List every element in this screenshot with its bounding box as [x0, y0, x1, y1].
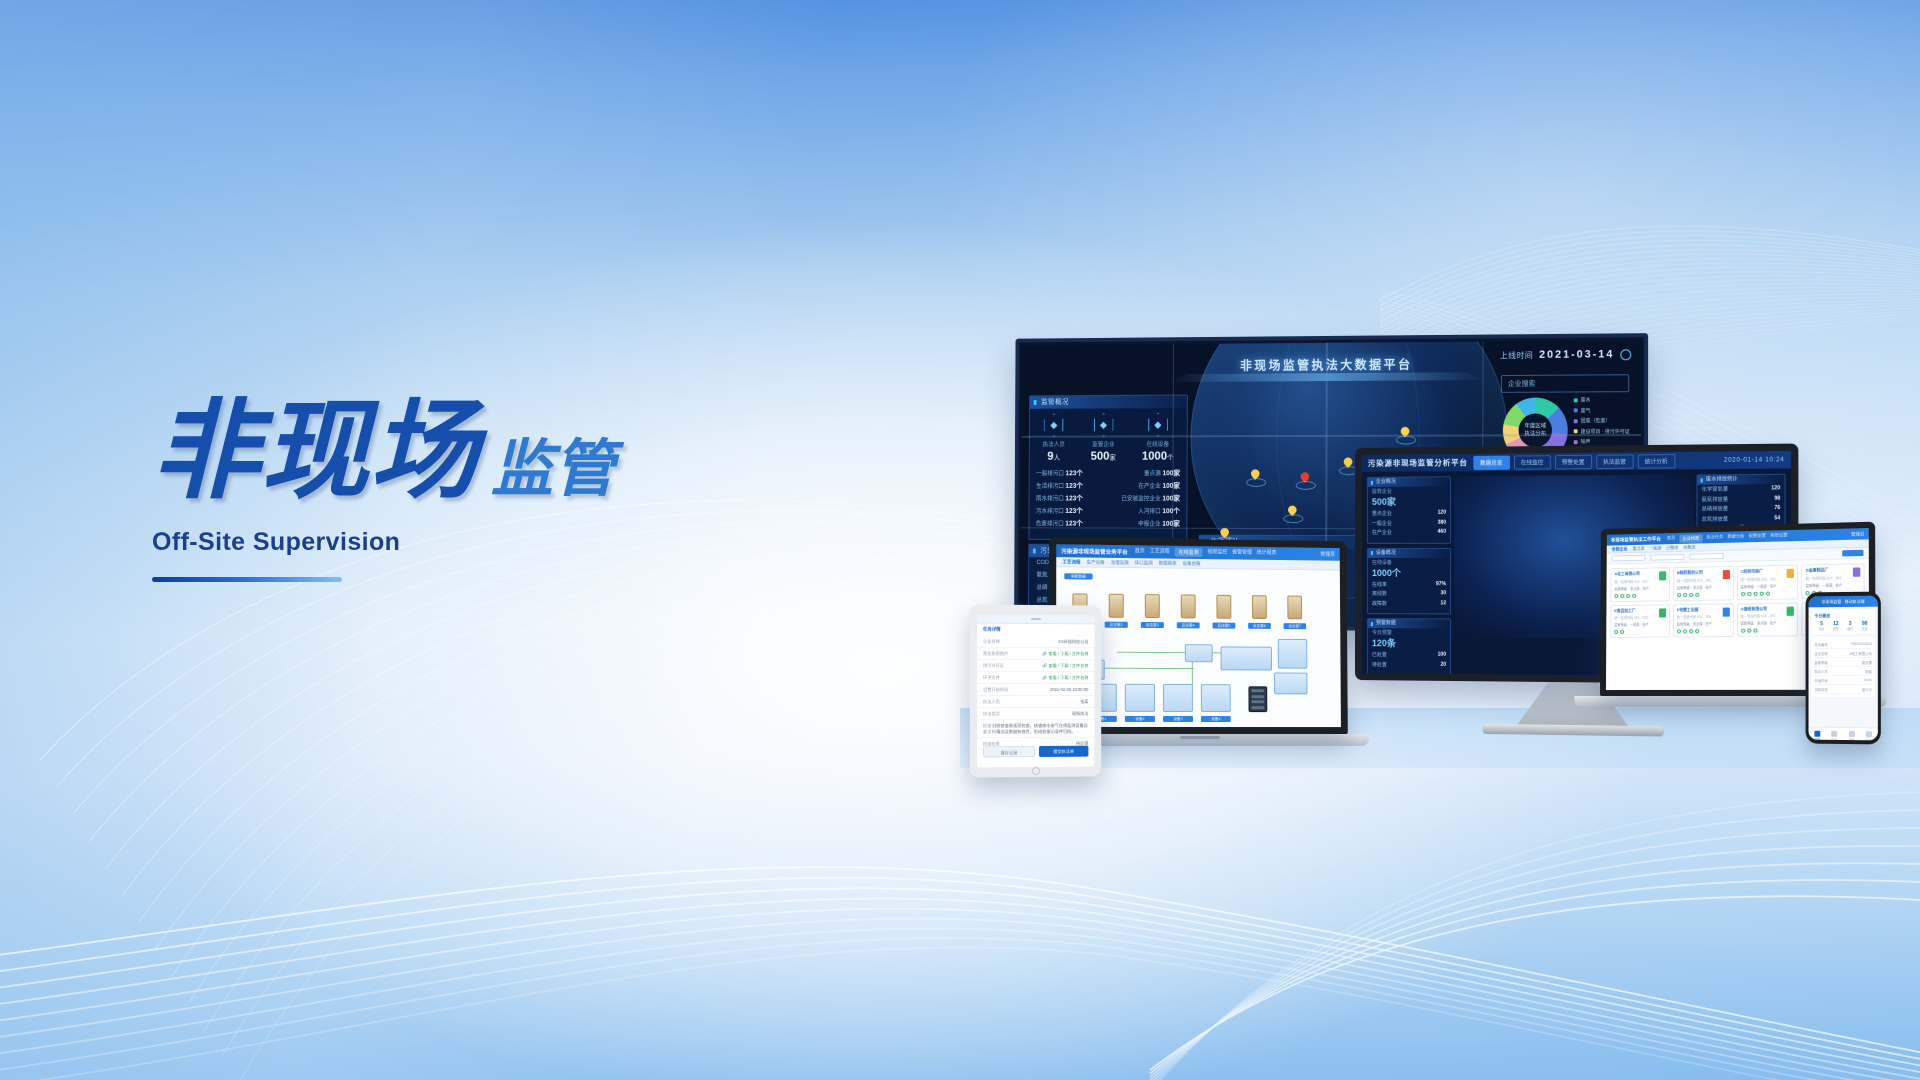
tablet-detail-row: 企业名称XX环保科技公司 — [977, 636, 1094, 649]
process-tank-icon — [1109, 594, 1124, 618]
refresh-button[interactable]: 刷新数据 — [1064, 573, 1092, 579]
enterprise-card-meta: 监管等级：一般源 · 停产 — [1741, 583, 1795, 589]
laptop-right-menu-item[interactable]: 系统设置 — [1770, 532, 1787, 541]
status-dot-icon — [1620, 594, 1624, 598]
overview-mini-row: 污水排污口 123个入河排口 100个 — [1029, 504, 1186, 517]
phone-kpi-label: 超标 — [1847, 627, 1853, 631]
status-dot-icon — [1683, 592, 1687, 596]
enterprise-card[interactable]: A化工有限公司统一信用代码 913…001监管等级：重点源 · 在产 — [1610, 567, 1670, 602]
phone-task-value: 10:00 — [1863, 678, 1871, 683]
phone-nav-item[interactable]: 首页 — [1809, 728, 1826, 740]
monitor-card-stat-value: 120条 — [1372, 636, 1446, 650]
search-input[interactable]: 企业搜索 — [1501, 374, 1629, 393]
tablet-detail-row: 执法类型现场执法 — [977, 708, 1094, 720]
process-tank-button[interactable]: 反应釜6 — [1248, 623, 1271, 629]
phone-task-row: 企业名称A化工有限公司 — [1814, 649, 1871, 658]
tablet-detail-key: 环评文件 — [983, 674, 1000, 680]
phone-task-value: 重点源 — [1862, 659, 1872, 664]
mini-row-left: 雨水排污口 123个 — [1036, 493, 1083, 503]
enterprise-card-code: 统一信用代码 913…002 — [1677, 577, 1729, 583]
search-button[interactable] — [1842, 550, 1863, 557]
tablet-detail-value[interactable]: 🔗 查看 / 下载 / 文件名称 — [1042, 651, 1088, 657]
overview-stat-cell: ◆执法人员9人 — [1043, 413, 1066, 462]
mini-row-left-value: 123个 — [1065, 508, 1082, 515]
process-line-3 — [1102, 668, 1194, 670]
laptop-center-menu-item[interactable]: 工艺流程 — [1150, 547, 1170, 556]
monitor-card-row-key: 在产企业 — [1372, 529, 1392, 536]
phone-task-row: 当前状态进行中 — [1814, 685, 1871, 694]
monitor-card-header: 设备概况 — [1368, 548, 1450, 557]
enterprise-card-meta: 监管等级：重点源 · 在产 — [1741, 620, 1795, 626]
tablet-detail-value: 现场执法 — [1072, 710, 1089, 716]
process-tank-icon — [1252, 595, 1267, 619]
status-dot-icon — [1626, 593, 1630, 597]
phone-nav-item[interactable]: 预警 — [1843, 728, 1860, 740]
donut-legend-swatch — [1574, 398, 1578, 402]
tablet-detail-row: 检查要求对照核查表逐项检查，核查废水废气在线监测设备运行情况及数据有效性，形成检… — [977, 720, 1094, 738]
clock-icon — [1620, 349, 1631, 360]
process-device-button[interactable]: 设备2 — [1125, 716, 1155, 722]
enterprise-card-meta: 监管等级：重点源 · 在产 — [1677, 584, 1729, 590]
phone-task-key: 企业名称 — [1814, 651, 1827, 656]
monitor-card-row: 在产企业460 — [1372, 529, 1446, 536]
donut-legend-item: 噪声 — [1574, 438, 1633, 445]
phone-task-key: 当前状态 — [1814, 686, 1827, 691]
page-title: 非现场 — [152, 398, 479, 506]
donut-legend-swatch — [1574, 440, 1578, 444]
monitor-card-row-key: 待处置 — [1372, 661, 1387, 668]
monitor-card-row-key: 一般企业 — [1372, 519, 1392, 526]
phone-task-value: RW20210314 — [1851, 641, 1872, 646]
monitor-card-row-key: 总磷排放量 — [1702, 505, 1728, 512]
phone-task-value: 张某 — [1865, 669, 1872, 674]
tablet-action-button[interactable]: 暂存记录 — [983, 746, 1035, 757]
enterprise-card-meta: 监管等级：一般源 · 在产 — [1614, 621, 1666, 627]
monitor-left-cards: 企业概况监管企业500家重点企业120一般企业380在产企业460设备概况在线设… — [1367, 476, 1451, 666]
monitor-tab[interactable]: 在线监控 — [1514, 455, 1551, 470]
tablet-detail-key: 营业执照图片 — [983, 650, 1008, 656]
monitor-tab[interactable]: 统计分析 — [1637, 453, 1675, 468]
tablet-detail-row: 营业执照图片🔗 查看 / 下载 / 文件名称 — [977, 648, 1094, 660]
overview-panel-header: 监管概况 — [1030, 395, 1187, 408]
process-tank-button[interactable]: 反应釜2 — [1105, 622, 1128, 628]
status-badge — [1722, 607, 1729, 616]
page-subtitle-cn: 监管 — [491, 438, 615, 500]
mini-row-left: 污水排污口 123个 — [1036, 506, 1083, 516]
tablet-detail-value: 张某 — [1080, 698, 1088, 704]
phone-screen: 非现场监管 · 移动执法端 今日概览 5待办12预警3超标98在线 任务编号RW… — [1809, 596, 1878, 741]
status-dot-icon — [1683, 629, 1687, 633]
monitor-card-header: 废水排放统计 — [1697, 475, 1784, 485]
donut-legend-item: 废气 — [1574, 407, 1633, 414]
phone-task-key: 监管等级 — [1814, 660, 1827, 665]
tablet-detail-row: 设置开始时间2021-02-25 10:00:00 — [977, 684, 1094, 696]
map-pin-icon — [1301, 472, 1310, 485]
donut-legend-swatch — [1574, 408, 1578, 412]
monitor-title: 污染源非现场监管分析平台 — [1368, 457, 1468, 469]
monitor-card-row: 一般企业380 — [1372, 519, 1446, 526]
overview-stat-cell: ◆在线设备1000个 — [1142, 413, 1174, 463]
enterprise-card[interactable]: F电镀工业园统一信用代码 913…006监管等级：重点源 · 在产 — [1673, 603, 1734, 638]
enterprise-card[interactable]: B制药股份公司统一信用代码 913…002监管等级：重点源 · 在产 — [1673, 566, 1734, 601]
monitor-card-row: 在线率97% — [1372, 581, 1446, 588]
laptop-center-title: 污染源非现场监管业务平台 — [1061, 547, 1127, 556]
monitor-card-row-value: 100 — [1438, 652, 1446, 659]
monitor-card-row: 化学需氧量120 — [1702, 485, 1781, 493]
overview-mini-row: 雨水排污口 123个已安装监控企业 100家 — [1029, 492, 1186, 505]
enterprise-card-code: 统一信用代码 913…006 — [1677, 614, 1730, 620]
tablet-detail-value[interactable]: 🔗 查看 / 下载 / 文件名称 — [1042, 675, 1088, 681]
laptop-center-menu-item[interactable]: 在线监测 — [1175, 548, 1203, 557]
phone-nav-icon — [1866, 731, 1872, 737]
monitor-tabs: 数据总览在线监控预警处置执法监管统计分析 — [1473, 453, 1675, 469]
laptop-center-menu: 首页工艺流程在线监测视频监控报警管理统计报表 — [1135, 547, 1277, 558]
map-pin-head — [1299, 470, 1311, 482]
status-dot-icon — [1614, 630, 1618, 634]
laptop-center-menu-item[interactable]: 统计报表 — [1257, 549, 1277, 558]
donut-legend-swatch — [1574, 429, 1578, 433]
tablet-device: 任务详情 企业名称XX环保科技公司营业执照图片🔗 查看 / 下载 / 文件名称排… — [970, 604, 1101, 777]
monitor-card-row-value: 380 — [1438, 519, 1446, 526]
monitor-card-row-value: 120 — [1438, 510, 1446, 517]
date-label: 上线时间 — [1500, 350, 1533, 361]
donut-center-line2: 执法分布 — [1524, 431, 1546, 437]
monitor-card-row-key: 重点企业 — [1372, 510, 1392, 517]
overview-panel: 监管概况 ◆执法人员9人◆监管企业500家◆在线设备1000个 一般排污口 12… — [1028, 395, 1188, 541]
mini-row-left-value: 123个 — [1065, 495, 1082, 502]
monitor-card-row: 总氮排放量54 — [1702, 515, 1781, 523]
enterprise-card-meta: 监管等级：重点源 · 在产 — [1677, 621, 1730, 627]
map-pin-head — [1286, 504, 1298, 516]
laptop-right-tab[interactable]: 一般源 — [1649, 545, 1661, 551]
overview-stat-label: 监管企业 — [1091, 439, 1116, 448]
donut-legend-label: 废水 — [1581, 396, 1591, 403]
process-tank-icon — [1145, 594, 1160, 618]
phone-notch — [1832, 592, 1854, 596]
tablet-action-button[interactable]: 提交执法单 — [1039, 746, 1088, 757]
enterprise-card-meta: 监管等级：重点源 · 在产 — [1614, 585, 1665, 591]
enterprise-card-dots — [1614, 629, 1666, 634]
laptop-right-menu-item[interactable]: 数据分析 — [1727, 533, 1744, 542]
phone-nav-icon — [1831, 731, 1837, 737]
monitor-card-row: 总磷排放量76 — [1702, 505, 1781, 513]
process-device-node — [1201, 684, 1231, 712]
tablet-detail-value: 对照核查表逐项检查，核查废水废气在线监测设备运行情况及数据有效性，形成检查记录并… — [992, 722, 1088, 734]
phone-task-key: 执法人员 — [1814, 668, 1827, 673]
building-hex-icon: ◆ — [1094, 413, 1114, 436]
monitor-card-row-value: 98 — [1774, 495, 1780, 502]
headline-divider — [152, 577, 342, 582]
phone-header: 非现场监管 · 移动执法端 — [1809, 596, 1878, 608]
process-tank-button[interactable]: 反应釜5 — [1213, 623, 1236, 629]
overview-stat-unit: 人 — [1054, 455, 1061, 462]
mini-row-left: 一般排污口 123个 — [1036, 468, 1083, 478]
enterprise-card-dots — [1677, 592, 1730, 597]
laptop-right-tab[interactable]: 全部企业 — [1612, 546, 1628, 552]
monitor-card-row-value: 54 — [1774, 515, 1780, 522]
status-dot-icon — [1753, 591, 1757, 595]
tablet-detail-key: 企业名称 — [983, 638, 1000, 644]
mini-row-left: 生活排污口 123个 — [1036, 481, 1083, 491]
process-device-button[interactable]: 设备3 — [1163, 716, 1193, 722]
laptop-right-menu-item[interactable]: 报警处置 — [1749, 532, 1766, 541]
map-pin-head — [1250, 467, 1262, 479]
tablet-detail-row: 排污许可证🔗 查看 / 下载 / 文件名称 — [977, 660, 1094, 672]
overview-stat-label: 在线设备 — [1142, 439, 1174, 448]
status-badge — [1787, 606, 1794, 615]
process-device-node — [1125, 684, 1155, 712]
phone-nav-icon — [1814, 731, 1820, 737]
phone-kpi-label: 在线 — [1862, 627, 1868, 631]
phone-task-rows: 任务编号RW20210314企业名称A化工有限公司监管等级重点源执法人员张某开始… — [1814, 640, 1871, 694]
tablet-header: 任务详情 — [977, 624, 1094, 637]
monitor-time: 2020-01-14 10:24 — [1724, 457, 1785, 464]
monitor-card-row: 故障数12 — [1372, 600, 1446, 607]
phone-nav-item[interactable]: 我的 — [1860, 728, 1877, 740]
tablet-detail-key: 执法类型 — [983, 711, 1000, 717]
mini-row-right: 入河排口 100个 — [1138, 506, 1180, 516]
monitor-card-row-key: 已处置 — [1372, 651, 1387, 658]
filter-industry[interactable] — [1612, 555, 1646, 562]
donut-legend-item: 废水 — [1574, 396, 1633, 403]
phone-kpi: 3超标 — [1847, 621, 1853, 631]
phone-section-title: 今日概览 — [1814, 613, 1871, 619]
tablet-detail-key: 设置开始时间 — [983, 686, 1008, 692]
status-dot-icon — [1677, 629, 1681, 633]
donut-center-line1: 年度区域 — [1524, 423, 1546, 429]
monitor-card: 企业概况监管企业500家重点企业120一般企业380在产企业460 — [1367, 476, 1451, 543]
status-dot-icon — [1614, 594, 1618, 598]
mini-row-left-value: 123个 — [1065, 470, 1082, 477]
process-tank-button[interactable]: 反应釜3 — [1141, 622, 1164, 628]
monitor-card-row: 氨氮排放量98 — [1702, 495, 1781, 503]
status-dot-icon — [1753, 629, 1757, 633]
tablet-home-button[interactable] — [1032, 767, 1040, 775]
donut-center-label: 年度区域 执法分布 — [1524, 422, 1546, 438]
overview-mini-rows: 一般排污口 123个重点源 100家生活排污口 123个在产企业 100家雨水排… — [1029, 466, 1186, 529]
process-device-button[interactable]: 设备4 — [1201, 716, 1231, 722]
donut-legend-label: 固废（危废） — [1581, 417, 1611, 424]
donut-legend-swatch — [1574, 419, 1578, 423]
hero-headline: 非现场 监管 Off-Site Supervision — [152, 398, 772, 582]
phone-kpi: 98在线 — [1862, 621, 1868, 631]
laptop-right-tab[interactable]: 已整改 — [1666, 544, 1678, 550]
process-device-node — [1163, 684, 1193, 712]
monitor-tab[interactable]: 预警处置 — [1555, 454, 1592, 469]
process-tank-button[interactable]: 反应釜4 — [1177, 622, 1200, 628]
process-tank-icon — [1287, 596, 1302, 620]
enterprise-card[interactable]: C纺织印染厂统一信用代码 913…003监管等级：一般源 · 停产 — [1737, 565, 1799, 600]
monitor-card-row: 离线数30 — [1372, 590, 1446, 597]
phone-nav-item[interactable]: 任务 — [1826, 728, 1843, 740]
status-badge — [1659, 608, 1666, 617]
phone-task-row: 任务编号RW20210314 — [1814, 640, 1871, 649]
status-badge — [1722, 570, 1729, 579]
monitor-card-stat-value: 500家 — [1372, 494, 1446, 507]
process-node-3 — [1221, 646, 1272, 670]
status-badge — [1853, 567, 1860, 576]
monitor-card-row-key: 总氮排放量 — [1702, 515, 1728, 522]
tablet-detail-row: 环评文件🔗 查看 / 下载 / 文件名称 — [977, 672, 1094, 684]
enterprise-card-dots — [1677, 629, 1730, 634]
map-pin-icon — [1288, 505, 1297, 518]
tablet-detail-key: 检查要求 — [983, 723, 992, 735]
enterprise-card-title: B制药股份公司 — [1677, 570, 1729, 576]
phone-task-row: 执法人员张某 — [1814, 667, 1871, 676]
monitor-card-row-key: 化学需氧量 — [1702, 486, 1728, 493]
device-mockup-cluster: 非现场监管执法大数据平台 上线时间 2021-03-14 企业搜索 监管概况 ◆… — [960, 300, 1920, 760]
monitor-topbar: 污染源非现场监管分析平台 数据总览在线监控预警处置执法监管统计分析 2020-0… — [1362, 451, 1791, 472]
donut-legend-item: 固废（危废） — [1574, 417, 1633, 424]
enterprise-card-meta: 监管等级：一般源 · 在产 — [1806, 581, 1861, 587]
laptop-center-subtab[interactable]: 工艺流程 — [1062, 559, 1080, 565]
monitor-card-row-value: 460 — [1438, 529, 1446, 536]
process-tank-icon — [1216, 595, 1231, 619]
status-dot-icon — [1620, 630, 1624, 634]
tablet-detail-value: XX环保科技公司 — [1058, 639, 1088, 645]
mini-row-left-value: 123个 — [1065, 520, 1082, 527]
phone-task-value: A化工有限公司 — [1849, 650, 1872, 655]
process-node-5 — [1274, 672, 1307, 694]
enterprise-card-dots — [1741, 591, 1795, 596]
phone-task-row: 监管等级重点源 — [1814, 658, 1871, 667]
status-dot-icon — [1695, 592, 1699, 596]
phone-kpis: 5待办12预警3超标98在线 — [1814, 621, 1871, 631]
process-node-2 — [1185, 644, 1213, 662]
phone-kpi-label: 待办 — [1819, 627, 1825, 631]
phone-task-value: 进行中 — [1862, 687, 1872, 692]
laptop-right-user: 管理员 — [1851, 531, 1864, 538]
phone-kpi-label: 预警 — [1833, 627, 1839, 631]
status-badge — [1659, 571, 1666, 580]
tablet-detail-value[interactable]: 🔗 查看 / 下载 / 文件名称 — [1042, 663, 1088, 669]
overview-stat-value: 1000个 — [1142, 449, 1174, 463]
device-hex-icon: ◆ — [1148, 413, 1168, 436]
status-dot-icon — [1741, 592, 1745, 596]
status-dot-icon — [1689, 629, 1693, 633]
people-hex-icon: ◆ — [1044, 413, 1064, 436]
map-pin-icon — [1400, 427, 1409, 440]
monitor-card-row-value: 97% — [1436, 581, 1446, 588]
laptop-right-menu-item[interactable]: 首页 — [1667, 534, 1675, 542]
overview-stat-cell: ◆监管企业500家 — [1091, 413, 1116, 462]
enterprise-card-dots — [1614, 593, 1665, 598]
monitor-card-header: 企业概况 — [1368, 477, 1450, 487]
monitor-card-row: 重点企业120 — [1372, 510, 1446, 517]
laptop-right-tab[interactable]: 待整改 — [1683, 544, 1695, 550]
laptop-right-title: 非现场监管执法工作平台 — [1611, 536, 1661, 543]
laptop-center-subtab[interactable]: 排口监测 — [1135, 560, 1153, 566]
laptop-center-subtab[interactable]: 数据报表 — [1159, 560, 1177, 566]
monitor-card: 预警数据今日预警120条已处置100待处置20 — [1367, 618, 1451, 676]
phone-task-section: 任务编号RW20210314企业名称A化工有限公司监管等级重点源执法人员张某开始… — [1811, 637, 1874, 697]
map-pin-head — [1342, 456, 1354, 469]
laptop-center-subtab[interactable]: 设备台账 — [1183, 560, 1201, 566]
tablet-detail-rows: 企业名称XX环保科技公司营业执照图片🔗 查看 / 下载 / 文件名称排污许可证🔗… — [977, 636, 1094, 751]
mini-row-left-value: 123个 — [1065, 483, 1082, 490]
donut-legend-label: 噪声 — [1581, 438, 1591, 445]
server-rack-icon — [1248, 686, 1267, 712]
process-tank-icon — [1181, 594, 1196, 618]
laptop-center-subtab[interactable]: 治理设施 — [1111, 559, 1129, 565]
status-dot-icon — [1632, 593, 1636, 597]
monitor-card-row: 已处置100 — [1372, 651, 1446, 659]
enterprise-card[interactable]: E食品加工厂统一信用代码 913…005监管等级：一般源 · 在产 — [1610, 604, 1670, 638]
monitor-card-stat-label: 在线设备 — [1372, 558, 1446, 565]
video-wall-date: 上线时间 2021-03-14 — [1500, 348, 1631, 361]
monitor-card-row-value: 120 — [1771, 485, 1780, 492]
phone-device: 非现场监管 · 移动执法端 今日概览 5待办12预警3超标98在线 任务编号RW… — [1806, 592, 1881, 745]
filter-region[interactable] — [1689, 553, 1724, 560]
process-node-4 — [1278, 639, 1308, 669]
status-dot-icon — [1747, 629, 1751, 633]
phone-task-key: 任务编号 — [1814, 642, 1827, 647]
tablet-detail-key: 排污许可证 — [983, 662, 1004, 668]
phone-kpi: 5待办 — [1819, 621, 1825, 631]
monitor-card-row-key: 离线数 — [1372, 590, 1387, 597]
laptop-center-user: 管理员 — [1320, 551, 1335, 558]
map-pin-icon — [1344, 458, 1353, 471]
filter-level[interactable] — [1650, 554, 1684, 561]
monitor-tab[interactable]: 执法监管 — [1596, 454, 1633, 469]
monitor-card-row-key: 故障数 — [1372, 600, 1387, 607]
monitor-card-stat: 在线设备1000个 — [1372, 558, 1446, 578]
overview-stat-label: 执法人员 — [1043, 440, 1065, 449]
phone-nav-icon — [1849, 731, 1855, 737]
monitor-card-row-value: 30 — [1440, 590, 1446, 597]
headline-title-line: 非现场 监管 — [152, 398, 772, 506]
map-pin-icon — [1221, 528, 1230, 541]
status-dot-icon — [1677, 593, 1681, 597]
laptop-center-menu-item[interactable]: 视频监控 — [1207, 548, 1227, 557]
laptop-right-tab[interactable]: 重点源 — [1632, 545, 1644, 551]
map-pin-icon — [1251, 469, 1260, 482]
monitor-card-row-key: 在线率 — [1372, 581, 1387, 588]
status-dot-icon — [1741, 629, 1745, 633]
laptop-center-subtab[interactable]: 生产设备 — [1087, 559, 1105, 565]
enterprise-card[interactable]: G造纸有限公司统一信用代码 913…007监管等级：重点源 · 在产 — [1736, 602, 1798, 637]
monitor-card-stat: 监管企业500家 — [1372, 487, 1446, 508]
phone-bottom-nav: 首页任务预警我的 — [1809, 727, 1878, 741]
tablet-action-buttons: 暂存记录提交执法单 — [977, 746, 1094, 758]
laptop-center-menu-item[interactable]: 首页 — [1135, 547, 1145, 556]
process-tank-button[interactable]: 反应釜7 — [1284, 623, 1307, 629]
status-dot-icon — [1695, 629, 1699, 633]
status-badge — [1787, 569, 1794, 578]
enterprise-card-dots — [1741, 628, 1795, 633]
tablet-detail-key: 执法人员 — [983, 699, 1000, 705]
laptop-center-menu-item[interactable]: 报警管理 — [1232, 549, 1252, 558]
overview-stat-value: 9人 — [1043, 449, 1065, 463]
monitor-card-row-value: 12 — [1440, 600, 1446, 607]
phone-task-key: 开始时间 — [1814, 677, 1827, 682]
status-dot-icon — [1765, 591, 1769, 595]
donut-legend-label: 废气 — [1581, 407, 1591, 414]
mini-row-right: 在产企业 100家 — [1138, 481, 1180, 491]
phone-overview-section: 今日概览 5待办12预警3超标98在线 — [1811, 610, 1874, 634]
laptop-right-menu-item[interactable]: 企业档案 — [1679, 534, 1702, 543]
monitor-card-stat: 今日预警120条 — [1372, 629, 1446, 650]
monitor-card-header: 预警数据 — [1368, 619, 1450, 628]
status-dot-icon — [1747, 591, 1751, 595]
monitor-card-row-value: 20 — [1440, 661, 1446, 668]
tablet-detail-row: 执法人员张某 — [977, 696, 1094, 708]
monitor-card: 设备概况在线设备1000个在线率97%离线数30故障数12 — [1367, 547, 1451, 614]
phone-kpi: 12预警 — [1833, 621, 1839, 631]
tablet-topbar — [977, 615, 1094, 625]
monitor-tab[interactable]: 数据总览 — [1473, 455, 1510, 469]
laptop-right-menu-item[interactable]: 执法任务 — [1706, 533, 1723, 541]
